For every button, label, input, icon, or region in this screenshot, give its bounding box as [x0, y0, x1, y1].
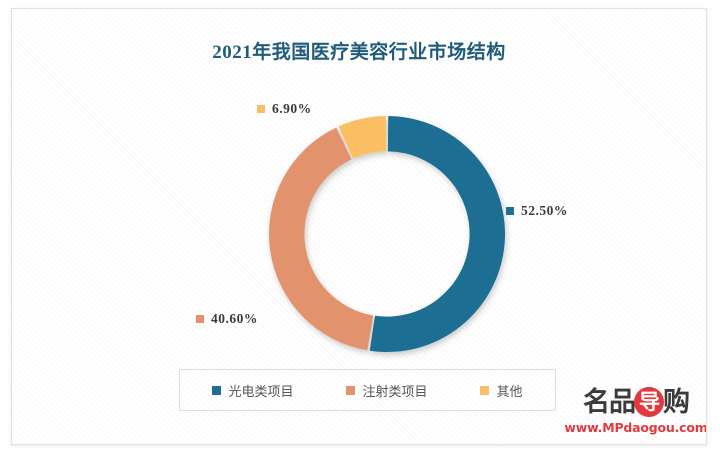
- watermark-char-1: 名: [583, 389, 609, 416]
- legend-item-qita[interactable]: 其他: [480, 381, 522, 400]
- watermark-badge-char: 导: [634, 387, 664, 417]
- chart-card: 2021年我国医疗美容行业市场结构 52.50% 40.60% 6.90%: [11, 8, 707, 445]
- watermark-char-2: 品: [609, 389, 635, 416]
- data-label-swatch-yellow: [257, 105, 265, 113]
- data-label-zhushe: 40.60%: [196, 311, 258, 327]
- donut-slice-0[interactable]: [370, 116, 505, 352]
- data-label-swatch-blue: [506, 207, 514, 215]
- data-label-qita: 6.90%: [257, 101, 312, 117]
- legend-item-guangdian[interactable]: 光电类项目: [212, 381, 293, 400]
- donut-slices: [269, 116, 505, 352]
- watermark-wordmark: 名 品 导 购: [583, 387, 689, 417]
- legend-swatch-zhushe: [346, 386, 355, 395]
- data-label-guangdian: 52.50%: [506, 203, 568, 219]
- data-label-swatch-salmon: [196, 315, 204, 323]
- legend-swatch-qita: [480, 386, 489, 395]
- watermark-url: www.MPdaogou.com: [564, 420, 707, 435]
- chart-legend: 光电类项目 注射类项目 其他: [179, 369, 556, 411]
- legend-label-guangdian: 光电类项目: [228, 381, 293, 400]
- legend-item-zhushe[interactable]: 注射类项目: [346, 381, 427, 400]
- watermark-logo: 名 品 导 购 www.MPdaogou.com: [570, 380, 702, 442]
- legend-label-qita: 其他: [496, 381, 522, 400]
- data-label-value-yellow: 6.90%: [272, 101, 312, 117]
- donut-slice-1[interactable]: [269, 127, 373, 350]
- data-label-value-blue: 52.50%: [521, 203, 568, 219]
- watermark-char-4: 购: [663, 389, 689, 416]
- chart-title: 2021年我国医疗美容行业市场结构: [12, 37, 706, 64]
- donut-slice-2[interactable]: [339, 116, 387, 159]
- data-label-value-salmon: 40.60%: [211, 311, 258, 327]
- legend-swatch-guangdian: [212, 386, 221, 395]
- legend-label-zhushe: 注射类项目: [362, 381, 427, 400]
